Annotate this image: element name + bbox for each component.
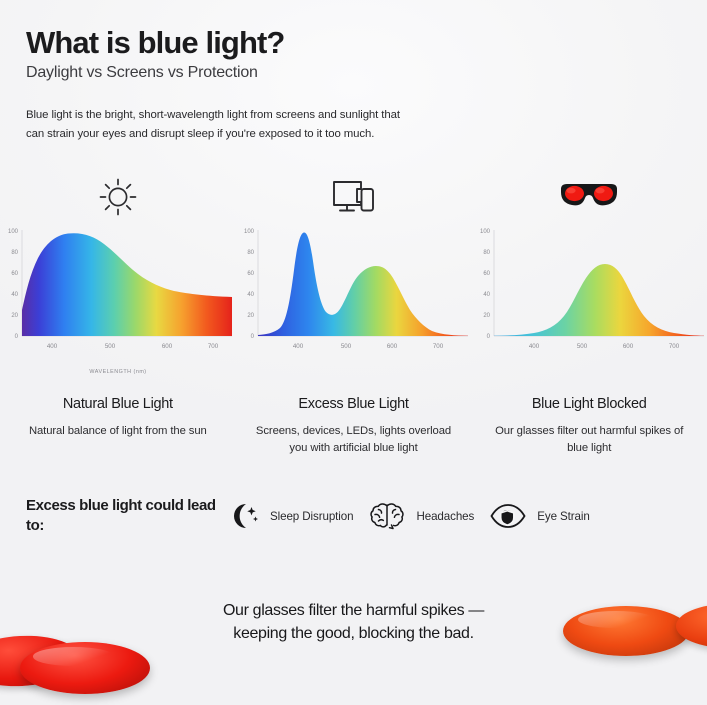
svg-text:100: 100 bbox=[244, 229, 255, 235]
svg-text:600: 600 bbox=[387, 343, 398, 350]
svg-text:40: 40 bbox=[247, 292, 254, 298]
svg-text:600: 600 bbox=[623, 343, 634, 350]
decorative-lens-left bbox=[20, 642, 150, 694]
svg-text:700: 700 bbox=[669, 343, 680, 350]
eye-shield-icon bbox=[490, 501, 526, 531]
icon-row bbox=[0, 174, 707, 220]
icon-cell-natural bbox=[0, 174, 236, 220]
svg-text:400: 400 bbox=[47, 343, 58, 350]
sun-icon bbox=[96, 175, 140, 219]
symptom-label: Eye Strain bbox=[537, 510, 590, 523]
icon-cell-screens bbox=[236, 174, 472, 220]
chart-3-svg: 100 80 60 40 20 0 400 500 600 700 bbox=[472, 222, 707, 362]
infographic-page: What is blue light? Daylight vs Screens … bbox=[0, 0, 707, 705]
svg-text:40: 40 bbox=[483, 292, 490, 298]
chart-1-xlabel: WAVELENGTH (nm) bbox=[0, 369, 236, 375]
symptom-label: Headaches bbox=[416, 510, 474, 523]
svg-text:0: 0 bbox=[15, 334, 19, 340]
page-title: What is blue light? bbox=[26, 26, 707, 59]
svg-text:400: 400 bbox=[529, 343, 540, 350]
caption-natural: Natural Blue Light Natural balance of li… bbox=[0, 396, 236, 457]
svg-text:400: 400 bbox=[293, 343, 304, 350]
svg-text:700: 700 bbox=[208, 343, 219, 350]
svg-text:20: 20 bbox=[11, 313, 18, 319]
svg-text:700: 700 bbox=[433, 343, 444, 350]
caption-title: Blue Light Blocked bbox=[489, 396, 689, 412]
caption-title: Natural Blue Light bbox=[18, 396, 218, 412]
svg-text:100: 100 bbox=[8, 229, 19, 235]
svg-text:60: 60 bbox=[247, 271, 254, 277]
chart-2-area bbox=[258, 232, 468, 336]
chart-1-area bbox=[22, 233, 232, 336]
chart-blue-light-blocked: 100 80 60 40 20 0 400 500 600 700 bbox=[472, 222, 707, 375]
svg-text:60: 60 bbox=[483, 271, 490, 277]
svg-text:0: 0 bbox=[487, 334, 491, 340]
chart-2-svg: 100 80 60 40 20 0 400 500 600 700 bbox=[236, 222, 472, 362]
svg-text:20: 20 bbox=[483, 313, 490, 319]
svg-text:80: 80 bbox=[483, 250, 490, 256]
svg-text:40: 40 bbox=[11, 292, 18, 298]
page-subtitle: Daylight vs Screens vs Protection bbox=[26, 64, 707, 82]
svg-text:0: 0 bbox=[251, 334, 255, 340]
caption-desc: Screens, devices, LEDs, lights overload … bbox=[254, 423, 454, 457]
chart-natural-blue-light: 100 80 60 40 20 0 400 500 600 700 WAVELE… bbox=[0, 222, 236, 375]
intro-paragraph: Blue light is the bright, short-waveleng… bbox=[26, 106, 406, 143]
svg-text:500: 500 bbox=[577, 343, 588, 350]
svg-text:20: 20 bbox=[247, 313, 254, 319]
caption-desc: Natural balance of light from the sun bbox=[18, 423, 218, 440]
svg-text:80: 80 bbox=[11, 250, 18, 256]
svg-text:500: 500 bbox=[105, 343, 116, 350]
symptom-label: Sleep Disruption bbox=[270, 510, 353, 523]
captions-row: Natural Blue Light Natural balance of li… bbox=[0, 396, 707, 457]
symptoms-list: Sleep Disruption Hea bbox=[225, 500, 707, 532]
brain-icon bbox=[369, 500, 405, 532]
symptoms-lead-in: Excess blue light could lead to: bbox=[0, 496, 225, 537]
caption-desc: Our glasses filter out harmful spikes of… bbox=[489, 423, 689, 457]
symptom-sleep-disruption: Sleep Disruption bbox=[225, 500, 353, 532]
svg-text:500: 500 bbox=[341, 343, 352, 350]
decorative-lens-right bbox=[563, 606, 689, 656]
header: What is blue light? Daylight vs Screens … bbox=[0, 0, 707, 82]
symptoms-row: Excess blue light could lead to: Sleep D… bbox=[0, 496, 707, 537]
chart-excess-blue-light: 100 80 60 40 20 0 400 500 600 700 bbox=[236, 222, 472, 375]
caption-excess: Excess Blue Light Screens, devices, LEDs… bbox=[236, 396, 472, 457]
chart-1-svg: 100 80 60 40 20 0 400 500 600 700 bbox=[0, 222, 236, 362]
moon-stars-icon bbox=[225, 500, 259, 532]
chart-3-area bbox=[494, 264, 704, 336]
charts-row: 100 80 60 40 20 0 400 500 600 700 WAVELE… bbox=[0, 222, 707, 375]
caption-title: Excess Blue Light bbox=[254, 396, 454, 412]
svg-text:60: 60 bbox=[11, 271, 18, 277]
symptom-headaches: Headaches bbox=[369, 500, 474, 532]
symptom-eye-strain: Eye Strain bbox=[490, 501, 590, 531]
svg-text:100: 100 bbox=[480, 229, 491, 235]
red-sunglasses-icon bbox=[558, 181, 620, 213]
monitor-phone-icon bbox=[331, 177, 377, 217]
svg-text:80: 80 bbox=[247, 250, 254, 256]
caption-blocked: Blue Light Blocked Our glasses filter ou… bbox=[471, 396, 707, 457]
svg-text:600: 600 bbox=[162, 343, 173, 350]
icon-cell-protection bbox=[471, 174, 707, 220]
